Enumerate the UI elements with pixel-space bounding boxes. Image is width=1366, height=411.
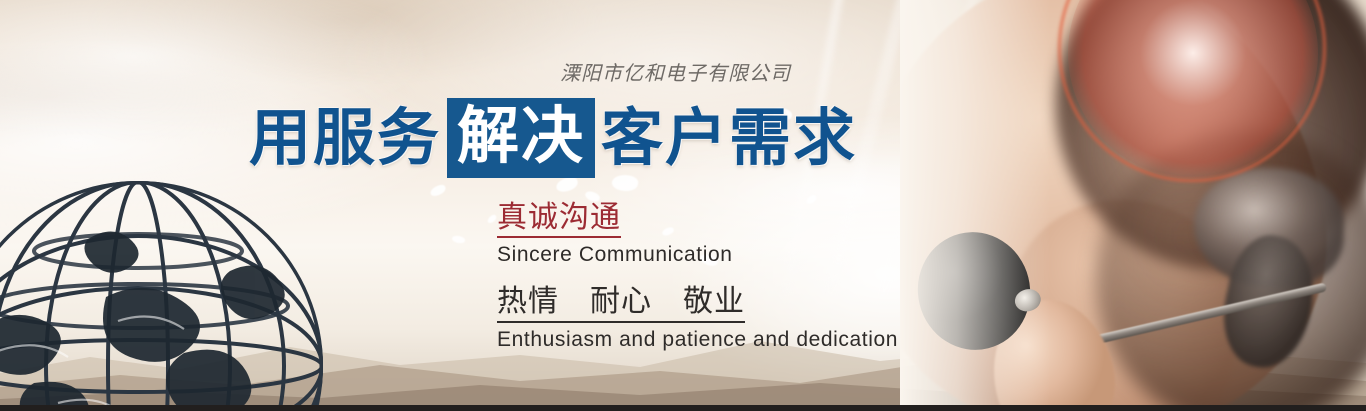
slogan-en-2: Enthusiasm and patience and dedication — [497, 328, 898, 352]
slogan-cn-1: 真诚沟通 — [497, 200, 621, 238]
slogan-en-1: Sincere Communication — [497, 243, 898, 267]
slogan-group-2: 热情 耐心 敬业 Enthusiasm and patience and ded… — [497, 284, 898, 351]
headline-highlight: 解决 — [447, 98, 595, 178]
headline-before: 用服务 — [249, 107, 441, 169]
promotional-banner: 溧阳市亿和电子有限公司 用服务 解决 客户需求 真诚沟通 Sincere Com… — [0, 0, 1366, 411]
slogan-cn-2: 热情 耐心 敬业 — [497, 284, 745, 322]
headline: 用服务 解决 客户需求 — [249, 98, 857, 178]
headline-after: 客户需求 — [601, 107, 857, 169]
company-name: 溧阳市亿和电子有限公司 — [560, 57, 791, 86]
photo-left-fade — [900, 0, 1050, 405]
slogan-block: 真诚沟通 Sincere Communication 热情 耐心 敬业 Enth… — [497, 200, 898, 352]
slogan-group-1: 真诚沟通 Sincere Communication — [497, 200, 898, 267]
bottom-bar — [0, 405, 1366, 411]
headset-operator-photo — [900, 0, 1366, 405]
